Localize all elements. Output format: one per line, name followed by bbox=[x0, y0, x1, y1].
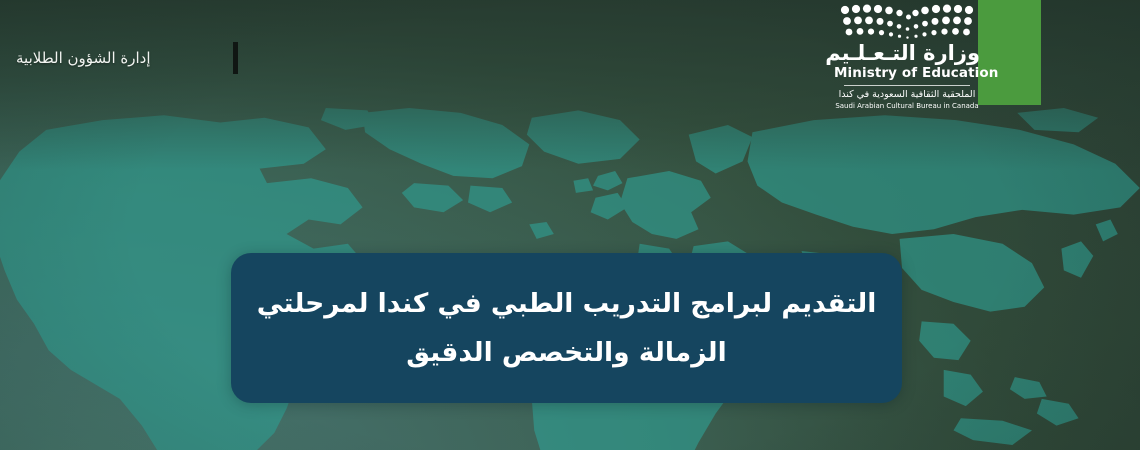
ministry-logo: وزارة التـعـلـيم Ministry of Education ا… bbox=[834, 4, 980, 110]
green-accent-block bbox=[978, 0, 1041, 105]
title-line-1: التقديم لبرامج التدريب الطبي في كندا لمر… bbox=[257, 289, 877, 318]
ministry-name-arabic: وزارة التـعـلـيم bbox=[834, 42, 980, 64]
logo-divider bbox=[844, 85, 970, 86]
cultural-bureau-english: Saudi Arabian Cultural Bureau in Canada bbox=[834, 102, 980, 111]
banner-root: إدارة الشؤون الطلابية bbox=[0, 0, 1140, 450]
saudi-emblem-dots-icon bbox=[839, 4, 975, 40]
department-label-text: إدارة الشؤون الطلابية bbox=[16, 49, 151, 67]
ministry-name-english: Ministry of Education bbox=[834, 65, 980, 81]
cultural-bureau-arabic: الملحقية الثقافية السعودية في كندا bbox=[834, 89, 980, 100]
title-line-2: الزمالة والتخصص الدقيق bbox=[406, 338, 726, 367]
title-panel: التقديم لبرامج التدريب الطبي في كندا لمر… bbox=[231, 253, 902, 403]
department-label: إدارة الشؤون الطلابية bbox=[16, 42, 238, 74]
accent-bar bbox=[233, 42, 238, 74]
